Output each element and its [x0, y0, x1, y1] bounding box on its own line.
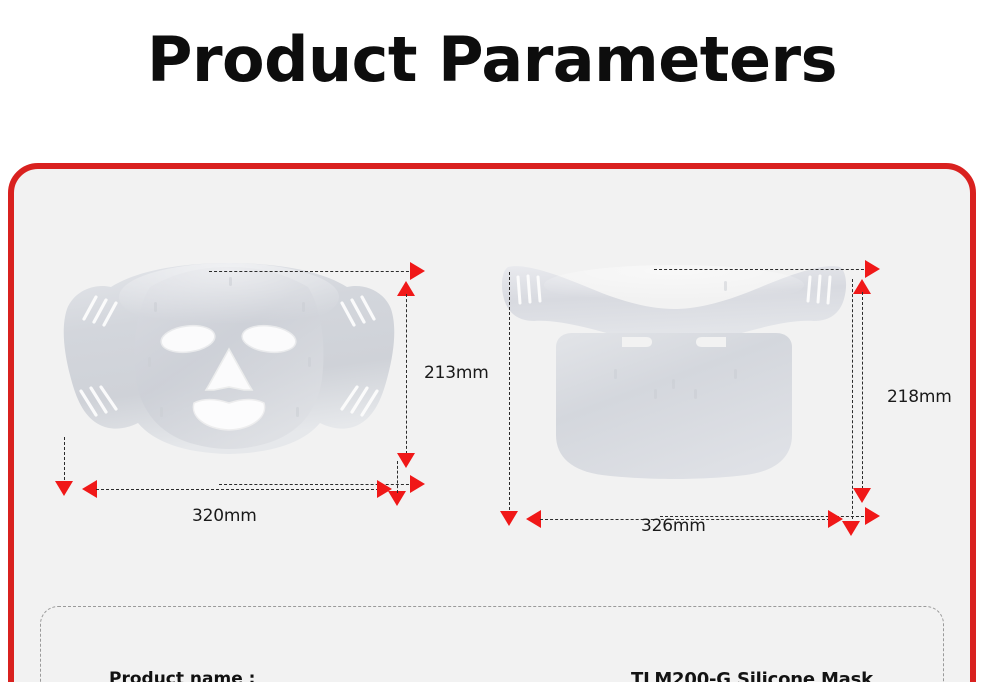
slot-left	[622, 337, 652, 347]
dim-arrow-top-right	[410, 262, 425, 280]
dim-arrow-width-left	[82, 480, 97, 498]
table-row: Product name : TLM200-G Silicone Mask	[41, 651, 943, 682]
dim-extension-right-inner-vertical	[852, 279, 853, 519]
neck-mask-svg	[494, 259, 854, 499]
dim-arrow-left-down	[55, 481, 73, 496]
dim-extension-left-vertical-2	[509, 272, 510, 515]
dim-label-height-right-product: 218mm	[887, 387, 952, 407]
neck-gloss	[544, 265, 804, 305]
card-inner: 213mm 320mm	[14, 169, 970, 682]
product-illustration-stage: 213mm 320mm	[14, 169, 970, 589]
dim-extension-right-vertical	[397, 461, 398, 493]
spec-value-product-name: TLM200-G Silicone Mask	[631, 669, 873, 682]
dim-arrow-height-bottom-2	[853, 488, 871, 503]
neck-mask-illustration	[494, 259, 854, 499]
neck-panel	[556, 333, 792, 479]
dim-arrow-left-down-2	[500, 511, 518, 526]
dim-arrow-width-left-2	[526, 510, 541, 528]
dim-label-height-left-product: 213mm	[424, 363, 489, 383]
face-mask-illustration	[54, 257, 404, 472]
dim-label-width-right-product: 326mm	[641, 516, 706, 536]
dim-extension-top-left-product	[209, 271, 414, 272]
dim-arrow-bottom-corner-2	[842, 521, 860, 536]
face-mask-svg	[54, 257, 404, 472]
dim-line-height-left-product	[406, 294, 407, 454]
spec-key-product-name: Product name :	[109, 669, 255, 682]
dim-arrow-width-right	[377, 480, 392, 498]
dim-label-width-left-product: 320mm	[192, 506, 257, 526]
dim-arrow-bottom-right-outer-2	[865, 507, 880, 525]
dim-extension-top-right-product	[654, 269, 869, 270]
dim-arrow-bottom-right-outer	[410, 475, 425, 493]
dim-arrow-height-bottom	[397, 453, 415, 468]
page-title: Product Parameters	[0, 24, 984, 95]
dim-arrow-width-right-2	[828, 510, 843, 528]
dim-extension-left-vertical	[64, 437, 65, 485]
spec-table: Product name : TLM200-G Silicone Mask	[40, 606, 944, 682]
dim-line-height-right-product	[862, 292, 863, 489]
slot-right	[696, 337, 726, 347]
dim-line-width-left-product	[96, 489, 379, 490]
mask-gloss	[119, 263, 339, 331]
product-parameters-page: Product Parameters	[0, 0, 984, 682]
dim-arrow-top-right-2	[865, 260, 880, 278]
product-parameters-card: 213mm 320mm	[8, 163, 976, 682]
